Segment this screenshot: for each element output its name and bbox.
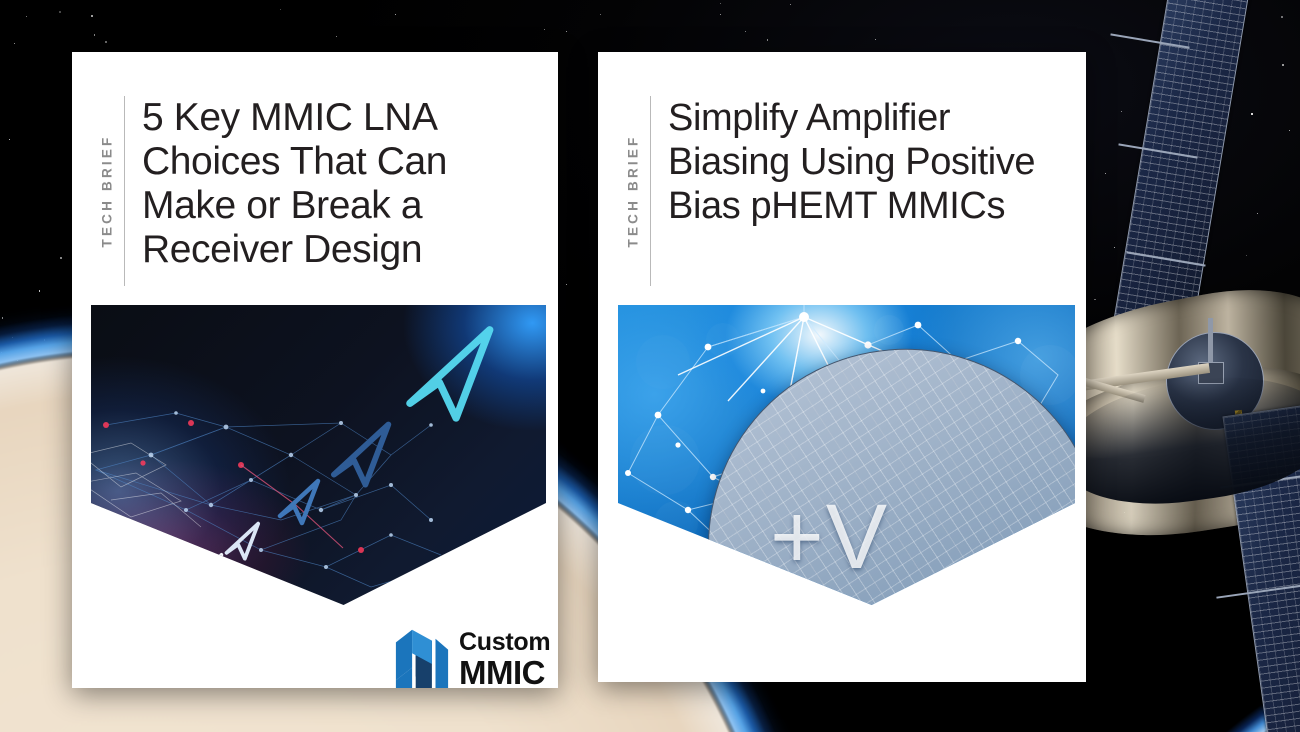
tech-brief-card-lna[interactable]: TECH BRIEF 5 Key MMIC LNA Choices That C… [72,52,558,688]
title-line: Bias pHEMT MMICs [668,185,1005,227]
kicker-label: TECH BRIEF [626,135,641,248]
title-line: Simplify Amplifier [668,97,950,139]
logo-line-custom: Custom [459,630,550,655]
arrow-cursor-tiny [219,517,269,567]
blue-network-wafer-artwork: +V [618,305,1075,605]
custom-mmic-logo-mark [394,628,450,688]
kicker-divider [124,96,125,286]
card-title-block: Simplify Amplifier Biasing Using Positiv… [650,96,1035,228]
card-header: TECH BRIEF 5 Key MMIC LNA Choices That C… [90,96,530,286]
tech-brief-card-phemt[interactable]: TECH BRIEF Simplify Amplifier Biasing Us… [598,52,1086,682]
satellite-illustration [1070,0,1300,732]
kicker-column: TECH BRIEF [90,96,124,286]
artwork-canvas [91,305,546,605]
title-line: 5 Key MMIC LNA [142,96,438,139]
title-line: Biasing Using Positive [668,141,1035,183]
card-header: TECH BRIEF Simplify Amplifier Biasing Us… [616,96,1064,286]
arrow-cursor-large [391,313,517,439]
custom-mmic-logo[interactable]: Custom MMIC [394,628,550,688]
arrow-cursor-medium [321,413,407,499]
artwork-chevron-clip [91,305,546,605]
arrow-cursor-small [271,473,331,533]
title-line: Make or Break a [142,184,422,227]
scene-root: TECH BRIEF 5 Key MMIC LNA Choices That C… [0,0,1300,732]
logo-line-mmic: MMIC [459,656,550,688]
kicker-column: TECH BRIEF [616,96,650,286]
card-title-block: 5 Key MMIC LNA Choices That Can Make or … [124,96,447,272]
artwork-chevron-clip: +V [618,305,1075,605]
page-title: Simplify Amplifier Biasing Using Positiv… [650,96,1035,228]
logo-wordmark: Custom MMIC [459,630,550,688]
kicker-label: TECH BRIEF [100,135,115,248]
page-title: 5 Key MMIC LNA Choices That Can Make or … [124,96,447,272]
dark-network-arrows-artwork [91,305,546,605]
wafer-overlay-text: +V [770,491,889,583]
title-line: Receiver Design [142,228,422,271]
kicker-divider [650,96,651,286]
artwork-canvas: +V [618,305,1075,605]
arrow-cursor-micro [187,549,231,593]
title-line: Choices That Can [142,140,447,183]
